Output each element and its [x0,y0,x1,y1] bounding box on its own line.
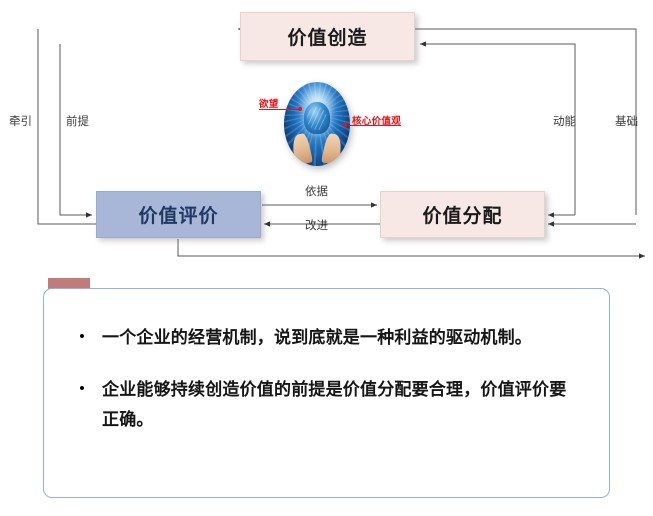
globe-head [304,102,330,134]
node-value-allocation-label: 价值分配 [422,201,502,228]
summary-card: • 一个企业的经营机制，说到底就是一种利益的驱动机制。 • 企业能够持续创造价值… [43,288,610,498]
list-item: • 企业能够持续创造价值的前提是价值分配要合理，价值评价要正确。 [62,375,579,435]
bullet-text: 一个企业的经营机制，说到底就是一种利益的驱动机制。 [102,323,579,353]
annotation-dot-core-values [343,123,347,127]
node-value-evaluation[interactable]: 价值评价 [96,191,261,238]
annotation-label-core-values: 核心价值观 [352,113,401,127]
slide-page: 价值创造 价值评价 价值分配 牵引 前提 动能 基础 依据 改进 欲望 [0,0,653,516]
edge-label-inner-left: 前提 [66,113,89,129]
bullet-marker-icon: • [62,323,102,353]
bullet-marker-icon: • [62,375,102,435]
edge-label-inner-right: 动能 [553,113,576,129]
edge-label-outer-right: 基础 [615,113,638,129]
annotation-label-desire: 欲望 [259,96,279,110]
globe-graphic [284,82,350,166]
node-value-allocation[interactable]: 价值分配 [380,191,545,238]
edge-label-mid-top: 依据 [305,183,328,199]
bullet-text: 企业能够持续创造价值的前提是价值分配要合理，价值评价要正确。 [102,375,579,435]
bullet-list: • 一个企业的经营机制，说到底就是一种利益的驱动机制。 • 企业能够持续创造价值… [44,289,609,497]
edge-label-mid-bottom: 改进 [305,217,328,233]
node-value-creation-label: 价值创造 [287,23,367,50]
node-value-creation[interactable]: 价值创造 [240,12,415,61]
value-cycle-diagram: 价值创造 价值评价 价值分配 牵引 前提 动能 基础 依据 改进 欲望 [0,0,653,268]
annotation-dot-desire [298,107,302,111]
list-item: • 一个企业的经营机制，说到底就是一种利益的驱动机制。 [62,323,579,353]
node-value-evaluation-label: 价值评价 [138,201,218,228]
edge-label-outer-left: 牵引 [9,113,32,129]
globe-in-hands-image [284,82,350,166]
